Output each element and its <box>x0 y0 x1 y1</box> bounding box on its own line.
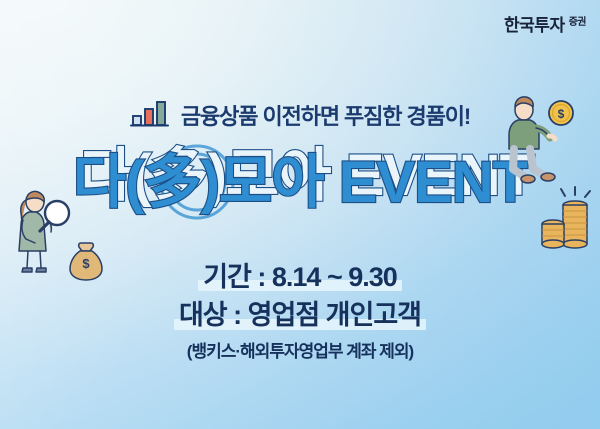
info-block: 기간 : 8.14 ~ 9.30 대상 : 영업점 개인고객 (뱅키스·해외투자… <box>0 258 600 360</box>
period-text: 기간 : 8.14 ~ 9.30 <box>203 262 397 292</box>
coin-symbol: $ <box>558 107 565 121</box>
brand-logo-main: 한국투자 <box>504 17 565 34</box>
subtitle-text: 금융상품 이전하면 푸짐한 경품이! <box>181 106 470 128</box>
period-line: 기간 : 8.14 ~ 9.30 <box>203 258 397 296</box>
target-line: 대상 : 영업점 개인고객 <box>179 296 421 334</box>
period-row: 기간 : 8.14 ~ 9.30 <box>0 258 600 296</box>
bar-chart-icon <box>130 99 170 134</box>
target-text: 대상 : 영업점 개인고객 <box>179 300 421 330</box>
promo-banner: 한국투자 증권 금융상품 이전하면 푸짐한 경품이! .t-shadow { f… <box>0 0 600 429</box>
brand-logo: 한국투자 증권 <box>504 17 586 34</box>
exclusion-note: (뱅키스·해외투자영업부 계좌 제외) <box>0 343 600 360</box>
man-sitting-with-coin-illustration: $ <box>500 86 582 197</box>
title-face-text: 다(多)모아 EVENT <box>73 150 528 215</box>
main-title-art: .t-shadow { font-family: "Liberation San… <box>50 140 550 220</box>
brand-logo-sub: 증권 <box>569 18 586 28</box>
target-row: 대상 : 영업점 개인고객 <box>0 296 600 334</box>
